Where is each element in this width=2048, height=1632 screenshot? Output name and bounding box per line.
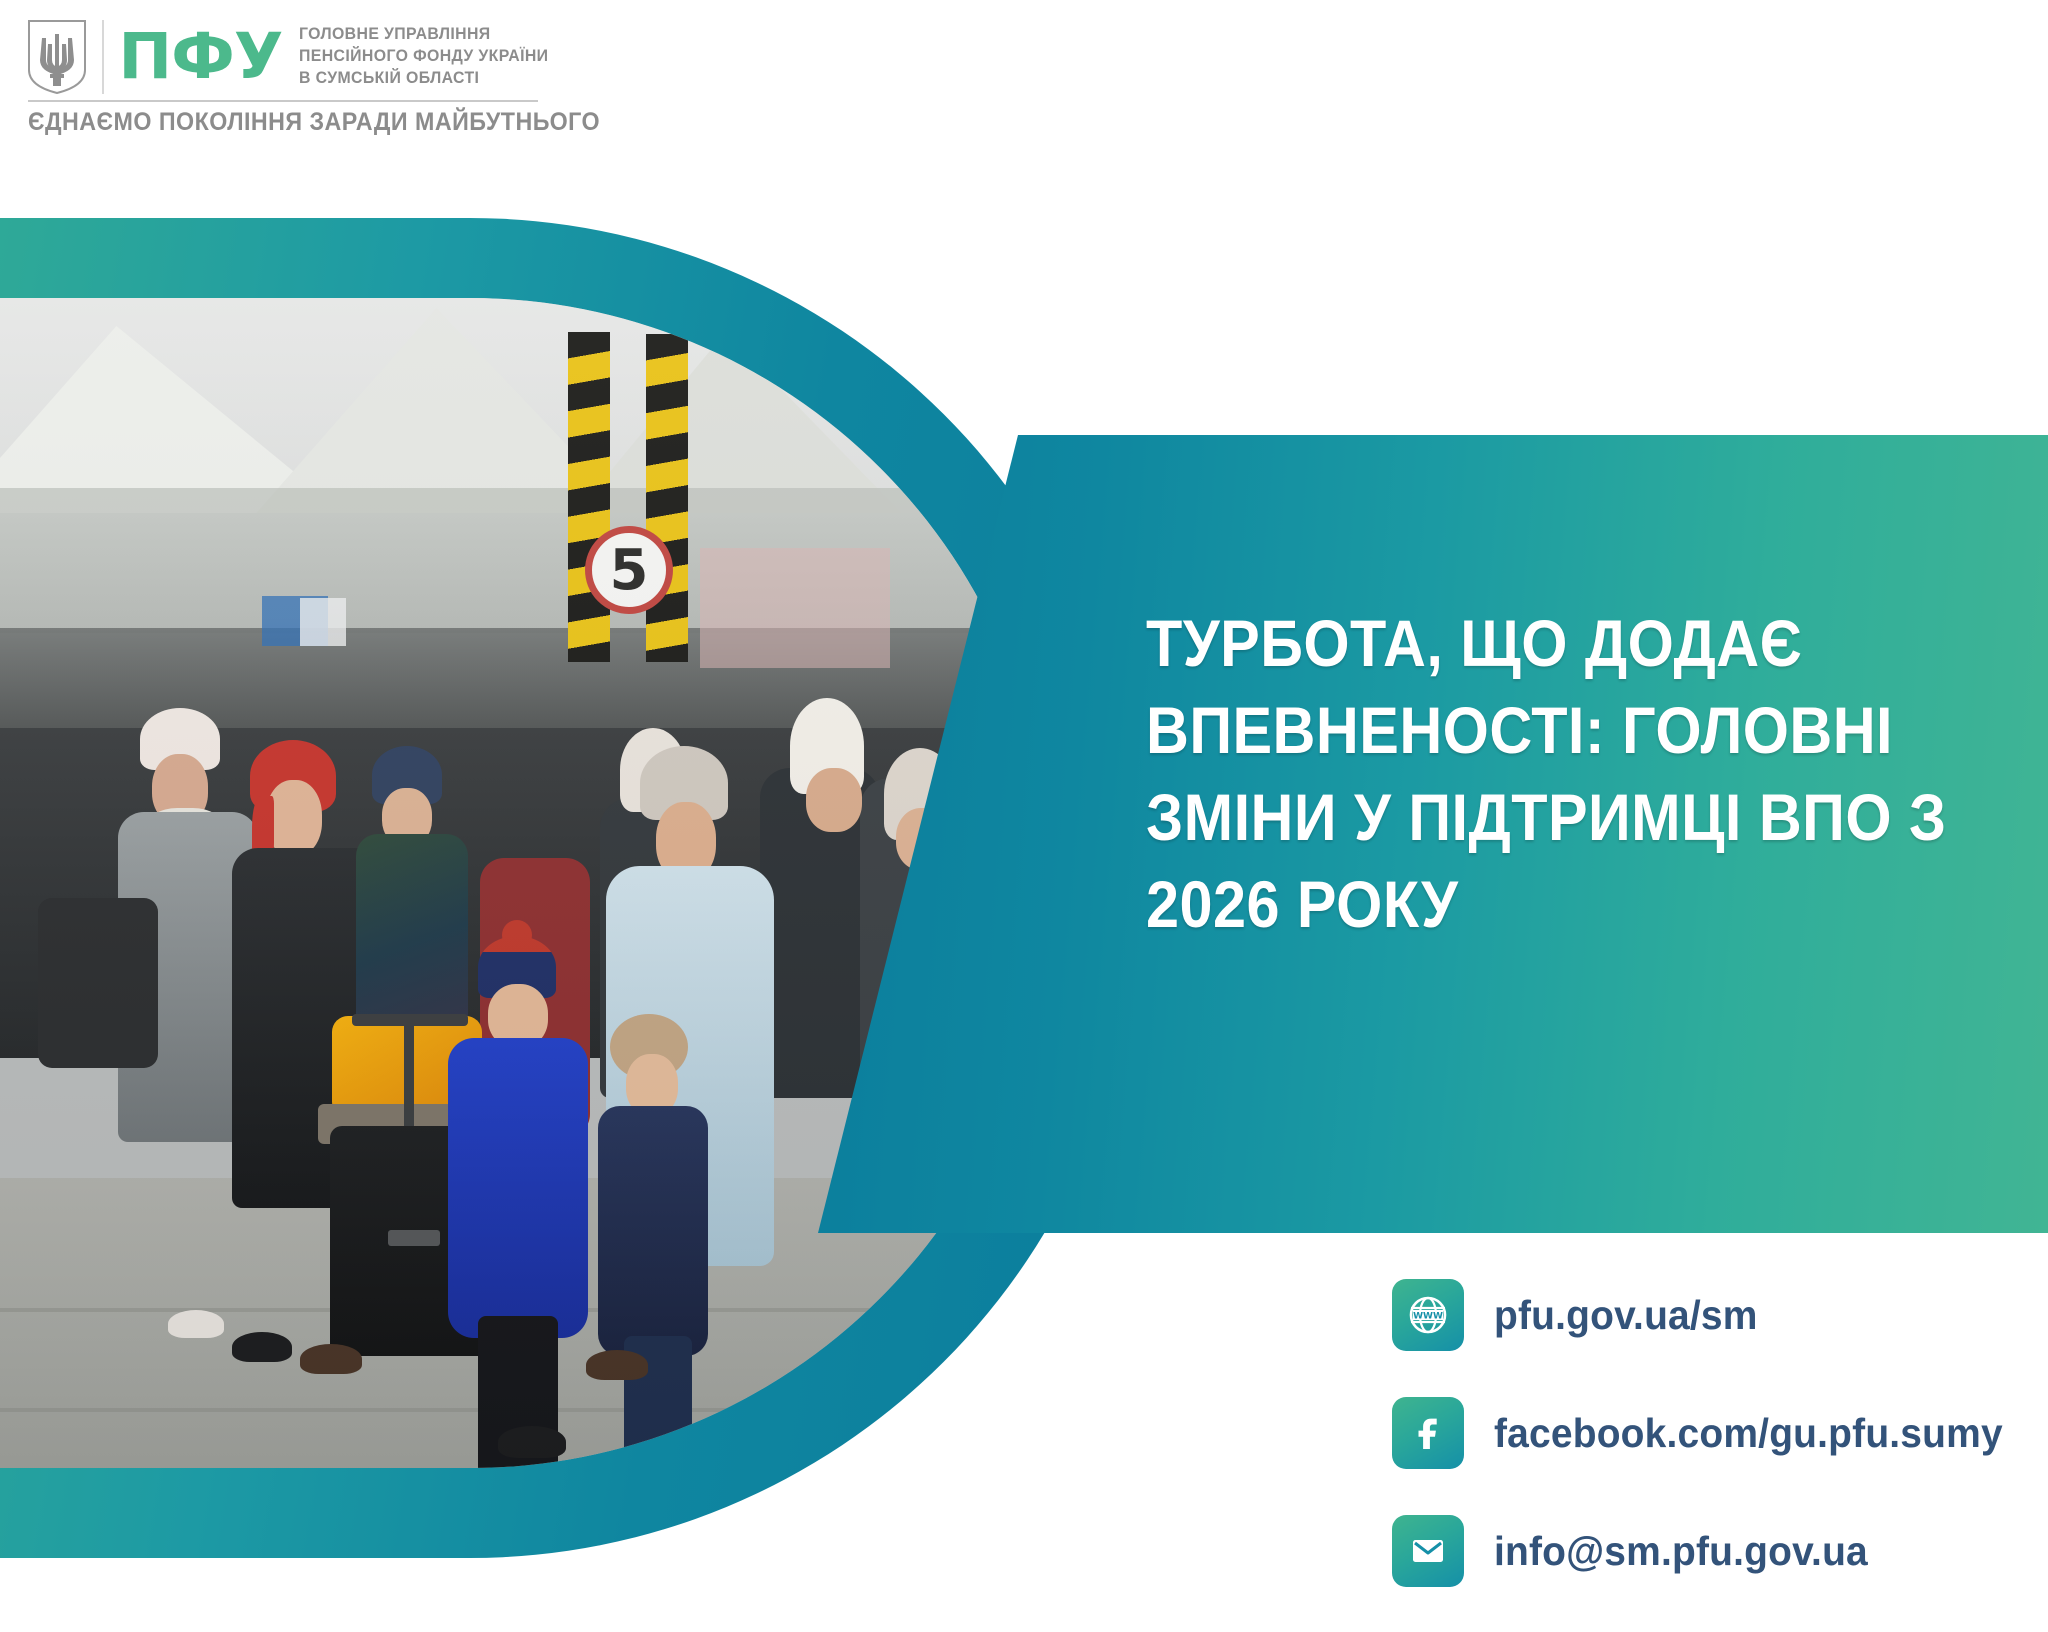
svg-text:WWW: WWW bbox=[1413, 1312, 1443, 1322]
contact-list: WWW pfu.gov.ua/sm facebook.com/gu.pfu.su… bbox=[1392, 1278, 2030, 1632]
contact-row-website[interactable]: WWW pfu.gov.ua/sm bbox=[1392, 1278, 2030, 1352]
logo-lockup: ПФУ ГОЛОВНЕ УПРАВЛІННЯ ПЕНСІЙНОГО ФОНДУ … bbox=[26, 18, 559, 96]
brand-header: ПФУ ГОЛОВНЕ УПРАВЛІННЯ ПЕНСІЙНОГО ФОНДУ … bbox=[0, 0, 580, 185]
org-line-1: ГОЛОВНЕ УПРАВЛІННЯ bbox=[299, 24, 548, 46]
org-line-2: ПЕНСІЙНОГО ФОНДУ УКРАЇНИ bbox=[299, 46, 548, 68]
email-envelope-icon bbox=[1392, 1515, 1464, 1587]
logo-divider bbox=[102, 20, 104, 94]
facebook-icon bbox=[1392, 1397, 1464, 1469]
globe-www-icon: WWW bbox=[1392, 1279, 1464, 1351]
photo-overlay bbox=[0, 298, 1050, 1468]
contact-website-label[interactable]: pfu.gov.ua/sm bbox=[1494, 1292, 1758, 1339]
contact-row-email[interactable]: info@sm.pfu.gov.ua bbox=[1392, 1514, 2030, 1588]
contact-row-facebook[interactable]: facebook.com/gu.pfu.sumy bbox=[1392, 1396, 2030, 1470]
page-title: ТУРБОТА, ЩО ДОДАЄ ВПЕВНЕНОСТІ: ГОЛОВНІ З… bbox=[1146, 600, 1956, 948]
ukraine-trident-emblem bbox=[26, 18, 88, 96]
pfu-wordmark: ПФУ bbox=[118, 28, 282, 86]
contact-email-label[interactable]: info@sm.pfu.gov.ua bbox=[1494, 1528, 1868, 1575]
tagline-divider bbox=[28, 100, 538, 102]
contact-facebook-label[interactable]: facebook.com/gu.pfu.sumy bbox=[1494, 1410, 2003, 1457]
org-line-3: В СУМСЬКІЙ ОБЛАСТІ bbox=[299, 68, 548, 90]
tagline: ЄДНАЄМО ПОКОЛІННЯ ЗАРАДИ МАЙБУТНЬОГО bbox=[28, 108, 600, 137]
hero-photo: 5 bbox=[0, 298, 1050, 1468]
organisation-name: ГОЛОВНЕ УПРАВЛІННЯ ПЕНСІЙНОГО ФОНДУ УКРА… bbox=[299, 24, 559, 89]
hero-photo-illustration: 5 bbox=[0, 298, 1050, 1468]
